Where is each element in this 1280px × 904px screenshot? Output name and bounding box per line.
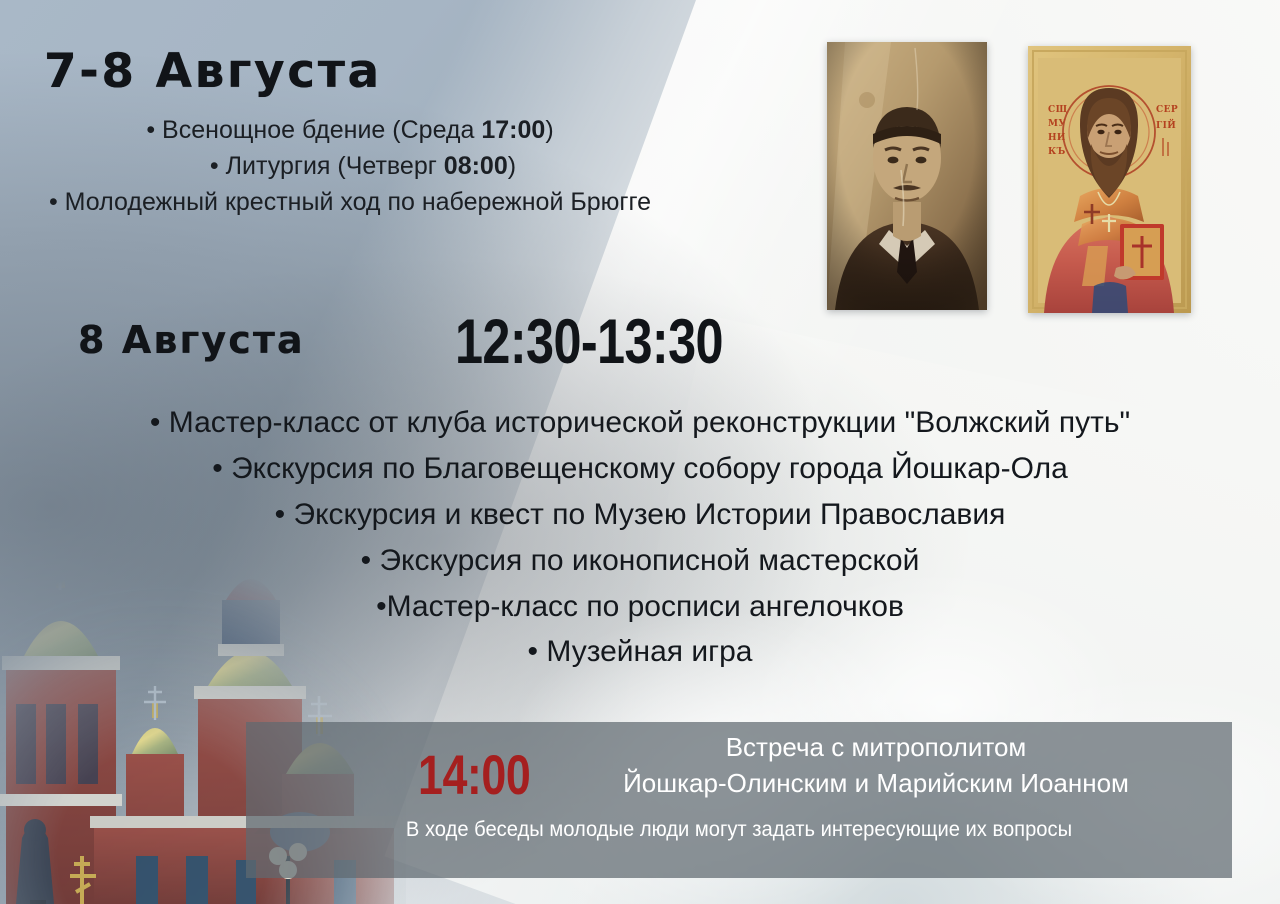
section-one-list: • Всенощное бдение (Среда 17:00) • Литур…	[0, 112, 700, 220]
svg-text:КЪ: КЪ	[1048, 147, 1066, 157]
list-item-text: • Всенощное бдение (Среда	[146, 116, 481, 144]
meeting-note: В ходе беседы молодые люди могут задать …	[266, 818, 1213, 842]
list-item: • Всенощное бдение (Среда 17:00)	[0, 112, 700, 148]
list-item: • Литургия (Четверг 08:00)	[0, 148, 700, 184]
list-item-time: 17:00	[481, 116, 545, 144]
meeting-time: 14:00	[418, 742, 530, 807]
svg-text:НИ: НИ	[1048, 133, 1066, 143]
list-item: • Экскурсия по иконописной мастерской	[0, 538, 1280, 584]
list-item-text: • Литургия (Четверг	[210, 152, 444, 180]
list-item: • Экскурсия и квест по Музею Истории Пра…	[0, 492, 1280, 538]
orthodox-icon: СЩ МУ НИ КЪ СЕР ГІЙ	[1028, 46, 1191, 313]
list-item: • Музейная игра	[0, 629, 1280, 675]
list-item: • Экскурсия по Благовещенскому собору го…	[0, 446, 1280, 492]
section-two-heading: 8 Августа	[78, 318, 305, 362]
list-item: • Молодежный крестный ход по набережной …	[0, 184, 700, 220]
section-two-time-range: 12:30-13:30	[455, 306, 723, 378]
svg-text:СЩ: СЩ	[1048, 105, 1068, 115]
meeting-title: Встреча с митрополитом Йошкар-Олинским и…	[556, 730, 1196, 802]
poster-canvas: СЩ МУ НИ КЪ СЕР ГІЙ 7-8 Августа • Всенощ…	[0, 0, 1280, 904]
section-two-list: • Мастер-класс от клуба исторической рек…	[0, 400, 1280, 675]
sepia-portrait-photo	[827, 42, 987, 310]
list-item: • Мастер-класс от клуба исторической рек…	[0, 400, 1280, 446]
list-item-tail: )	[545, 116, 553, 144]
list-item-time: 08:00	[444, 152, 508, 180]
list-item: •Мастер-класс по росписи ангелочков	[0, 584, 1280, 630]
meeting-title-line-2: Йошкар-Олинским и Марийским Иоанном	[556, 766, 1196, 802]
meeting-title-line-1: Встреча с митрополитом	[556, 730, 1196, 766]
list-item-tail: )	[508, 152, 516, 180]
svg-text:МУ: МУ	[1048, 119, 1066, 129]
svg-text:СЕР: СЕР	[1156, 105, 1178, 115]
section-one-heading: 7-8 Августа	[44, 44, 382, 99]
